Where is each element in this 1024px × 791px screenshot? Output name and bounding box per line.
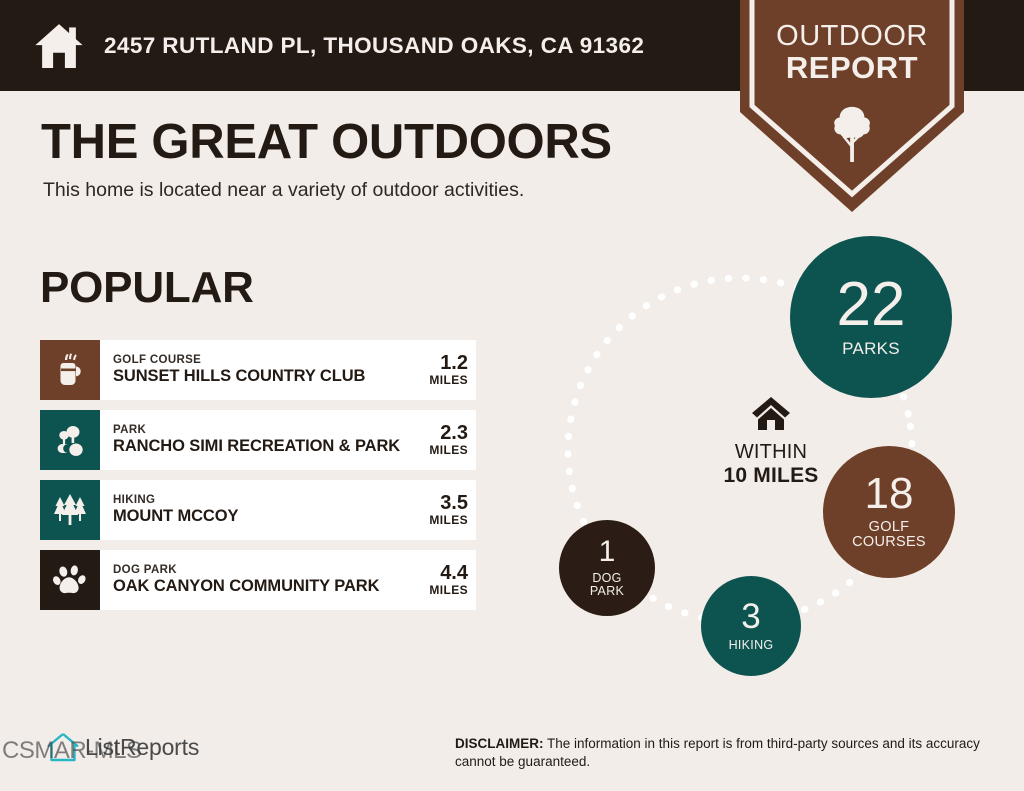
poi-distance-value: 3.5 [429, 493, 468, 514]
bubble-parks-label: PARKS [842, 340, 900, 358]
home-icon [751, 396, 791, 432]
home-icon [32, 19, 86, 73]
poi-distance-value: 1.2 [429, 353, 468, 374]
outdoor-report-badge: OUTDOOR REPORT [731, 0, 973, 212]
poi-icon-tile [40, 340, 100, 400]
poi-body: HIKING MOUNT MCCOY 3.5 MILES [100, 480, 476, 540]
bubble-golf-label-line1: GOLF [869, 520, 910, 535]
park-icon [52, 422, 88, 458]
center-line-within: WITHIN [676, 441, 866, 464]
golf-bag-icon [52, 352, 88, 388]
poi-distance: 3.5 MILES [423, 493, 468, 527]
poi-distance-value: 2.3 [429, 423, 468, 444]
bubble-hiking[interactable]: 3 HIKING [701, 576, 801, 676]
poi-icon-tile [40, 480, 100, 540]
page-subtitle: This home is located near a variety of o… [43, 181, 612, 201]
title-block: THE GREAT OUTDOORS This home is located … [41, 118, 612, 201]
poi-category: PARK [113, 424, 400, 437]
poi-icon-tile [40, 410, 100, 470]
poi-labels: HIKING MOUNT MCCOY [113, 494, 238, 526]
badge-shield-shape [731, 0, 973, 212]
poi-category: GOLF COURSE [113, 354, 365, 367]
within-10-miles-chart: 22 PARKS 18 GOLF COURSES 3 HIKING 1 DOG … [528, 228, 1010, 678]
list-item[interactable]: PARK RANCHO SIMI RECREATION & PARK 2.3 M… [40, 410, 476, 470]
list-item[interactable]: DOG PARK OAK CANYON COMMUNITY PARK 4.4 M… [40, 550, 476, 610]
bubble-hiking-value: 3 [741, 600, 760, 633]
bubble-dog-label-line2: PARK [590, 585, 624, 598]
poi-name: RANCHO SIMI RECREATION & PARK [113, 437, 400, 456]
bubble-golf-value: 18 [865, 473, 914, 515]
bubble-dog-value: 1 [599, 538, 616, 567]
diagram-center-label: WITHIN 10 MILES [676, 396, 866, 488]
poi-category: DOG PARK [113, 564, 379, 577]
poi-body: PARK RANCHO SIMI RECREATION & PARK 2.3 M… [100, 410, 476, 470]
poi-distance: 4.4 MILES [423, 563, 468, 597]
poi-distance: 2.3 MILES [423, 423, 468, 457]
popular-list: GOLF COURSE SUNSET HILLS COUNTRY CLUB 1.… [40, 340, 476, 620]
poi-distance-value: 4.4 [429, 563, 468, 584]
poi-distance-unit: MILES [429, 444, 468, 457]
poi-body: GOLF COURSE SUNSET HILLS COUNTRY CLUB 1.… [100, 340, 476, 400]
disclaimer: DISCLAIMER: The information in this repo… [455, 735, 995, 771]
list-item[interactable]: GOLF COURSE SUNSET HILLS COUNTRY CLUB 1.… [40, 340, 476, 400]
poi-distance-unit: MILES [429, 374, 468, 387]
popular-heading: POPULAR [40, 266, 254, 310]
poi-labels: GOLF COURSE SUNSET HILLS COUNTRY CLUB [113, 354, 365, 386]
poi-distance: 1.2 MILES [423, 353, 468, 387]
poi-name: SUNSET HILLS COUNTRY CLUB [113, 367, 365, 386]
page-title: THE GREAT OUTDOORS [41, 118, 612, 167]
bubble-parks[interactable]: 22 PARKS [790, 236, 952, 398]
poi-distance-unit: MILES [429, 514, 468, 527]
bubble-dog-park[interactable]: 1 DOG PARK [559, 520, 655, 616]
poi-name: OAK CANYON COMMUNITY PARK [113, 577, 379, 596]
poi-labels: DOG PARK OAK CANYON COMMUNITY PARK [113, 564, 379, 596]
disclaimer-label: DISCLAIMER: [455, 736, 544, 751]
bubble-hiking-label: HIKING [729, 639, 774, 652]
bubble-dog-label-line1: DOG [592, 572, 621, 585]
header-address: 2457 RUTLAND PL, THOUSAND OAKS, CA 91362 [104, 33, 644, 59]
mls-watermark: CSMAR-MLS [2, 737, 142, 765]
center-line-distance: 10 MILES [676, 464, 866, 488]
poi-distance-unit: MILES [429, 584, 468, 597]
bubble-parks-value: 22 [837, 276, 906, 335]
poi-category: HIKING [113, 494, 238, 507]
poi-name: MOUNT MCCOY [113, 507, 238, 526]
poi-labels: PARK RANCHO SIMI RECREATION & PARK [113, 424, 400, 456]
pine-trees-icon [51, 493, 89, 527]
list-item[interactable]: HIKING MOUNT MCCOY 3.5 MILES [40, 480, 476, 540]
poi-body: DOG PARK OAK CANYON COMMUNITY PARK 4.4 M… [100, 550, 476, 610]
bubble-golf-label-line2: COURSES [852, 535, 926, 550]
paw-print-icon [52, 562, 88, 598]
poi-icon-tile [40, 550, 100, 610]
